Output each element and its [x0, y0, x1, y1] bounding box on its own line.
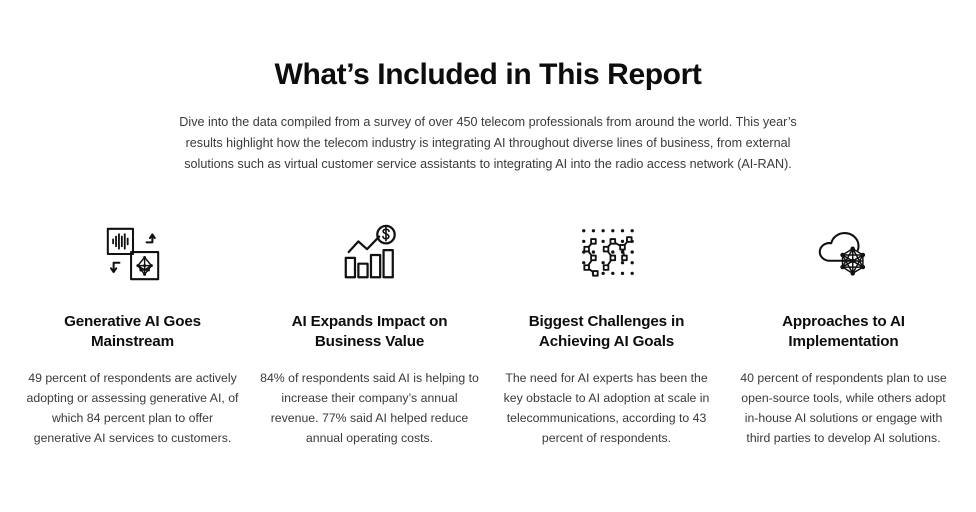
hero-block: What’s Included in This Report Dive into…	[0, 0, 976, 175]
highlight-columns: Generative AI Goes Mainstream 49 percent…	[0, 221, 976, 448]
highlight-body: 84% of respondents said AI is helping to…	[259, 368, 480, 448]
highlight-title: Biggest Challenges in Achieving AI Goals	[496, 312, 717, 352]
dot-grid-network-path-icon	[574, 221, 640, 287]
report-highlights-section: What’s Included in This Report Dive into…	[0, 0, 976, 512]
highlight-body: 49 percent of respondents are actively a…	[22, 368, 243, 448]
highlight-column-business-value: AI Expands Impact on Business Value 84% …	[251, 221, 488, 448]
waveform-to-neural-network-icon	[100, 221, 166, 287]
highlight-body: 40 percent of respondents plan to use op…	[733, 368, 954, 448]
highlight-column-challenges: Biggest Challenges in Achieving AI Goals…	[488, 221, 725, 448]
highlight-body: The need for AI experts has been the key…	[496, 368, 717, 448]
page-title: What’s Included in This Report	[0, 58, 976, 92]
highlight-column-approaches: Approaches to AI Implementation 40 perce…	[725, 221, 962, 448]
highlight-title: Approaches to AI Implementation	[733, 312, 954, 352]
hero-subtitle: Dive into the data compiled from a surve…	[178, 112, 798, 175]
highlight-title: Generative AI Goes Mainstream	[22, 312, 243, 352]
cloud-neural-network-icon	[811, 221, 877, 287]
bar-chart-growth-dollar-icon	[337, 221, 403, 287]
highlight-title: AI Expands Impact on Business Value	[259, 312, 480, 352]
highlight-column-generative-ai: Generative AI Goes Mainstream 49 percent…	[14, 221, 251, 448]
